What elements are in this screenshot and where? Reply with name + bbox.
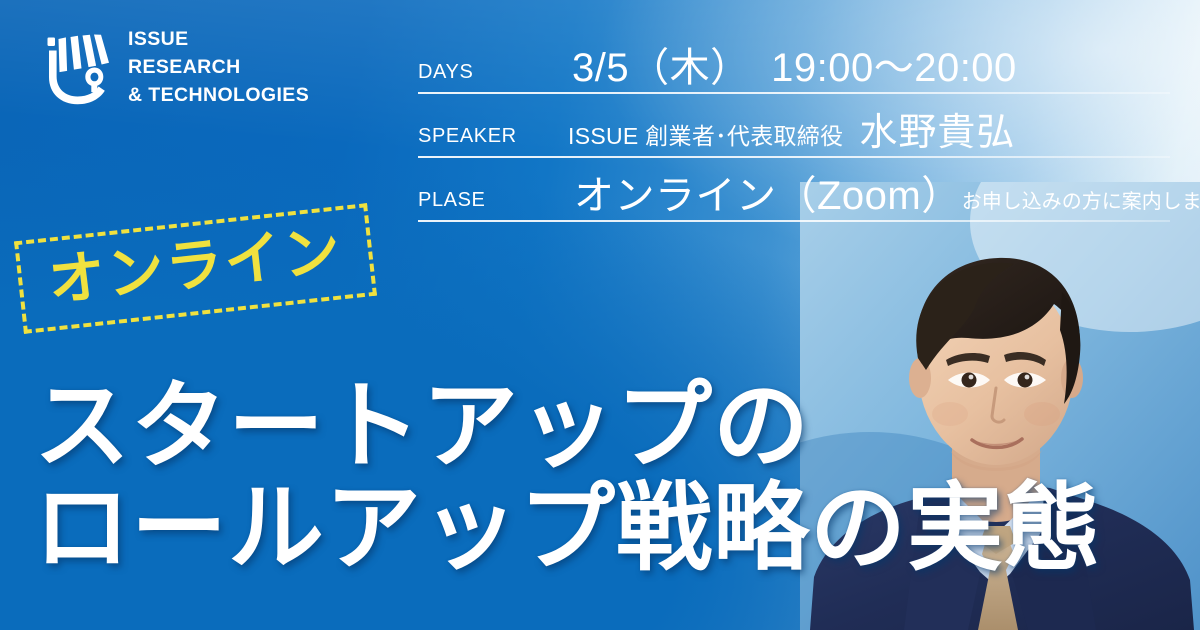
brand-name-line-3: & TECHNOLOGIES — [128, 84, 309, 106]
speaker-name: 水野貴弘 — [843, 114, 1015, 152]
place-note: お申し込みの方に案内します — [962, 192, 1200, 216]
page-title: スタートアップの ロールアップ戦略の実態 — [34, 372, 1101, 583]
page-title-line-2: ロールアップ戦略の実態 — [34, 474, 1101, 582]
info-value-days: 3/5（木） 19:00〜20:00 — [564, 48, 1017, 88]
seminar-banner: ISSUE RESEARCH & TECHNOLOGIES DAYS 3/5（木… — [0, 0, 1200, 630]
brand-logo[interactable]: ISSUE RESEARCH & TECHNOLOGIES — [36, 26, 309, 110]
info-label-speaker: SPEAKER — [418, 126, 564, 152]
brand-name: ISSUE RESEARCH & TECHNOLOGIES — [128, 26, 309, 109]
place-name: オンライン（Zoom） — [574, 176, 962, 216]
info-label-days: DAYS — [418, 62, 564, 88]
event-info: DAYS 3/5（木） 19:00〜20:00 SPEAKER ISSUE 創業… — [418, 30, 1170, 222]
brand-name-line-2: RESEARCH — [128, 56, 241, 78]
hand-palm-logo-icon — [36, 26, 114, 110]
info-label-place: PLASE — [418, 190, 564, 216]
page-title-line-1: スタートアップの — [34, 372, 1101, 480]
event-datetime: 3/5（木） 19:00〜20:00 — [572, 48, 1017, 88]
info-value-place: オンライン（Zoom） お申し込みの方に案内します — [564, 176, 1200, 216]
online-badge-label: オンライン — [46, 222, 345, 311]
info-row-place: PLASE オンライン（Zoom） お申し込みの方に案内します — [418, 158, 1170, 222]
info-value-speaker: ISSUE 創業者･代表取締役 水野貴弘 — [564, 114, 1015, 152]
brand-name-line-1: ISSUE — [128, 28, 189, 50]
speaker-role: ISSUE 創業者･代表取締役 — [568, 125, 843, 152]
info-row-speaker: SPEAKER ISSUE 創業者･代表取締役 水野貴弘 — [418, 94, 1170, 158]
info-row-days: DAYS 3/5（木） 19:00〜20:00 — [418, 30, 1170, 94]
